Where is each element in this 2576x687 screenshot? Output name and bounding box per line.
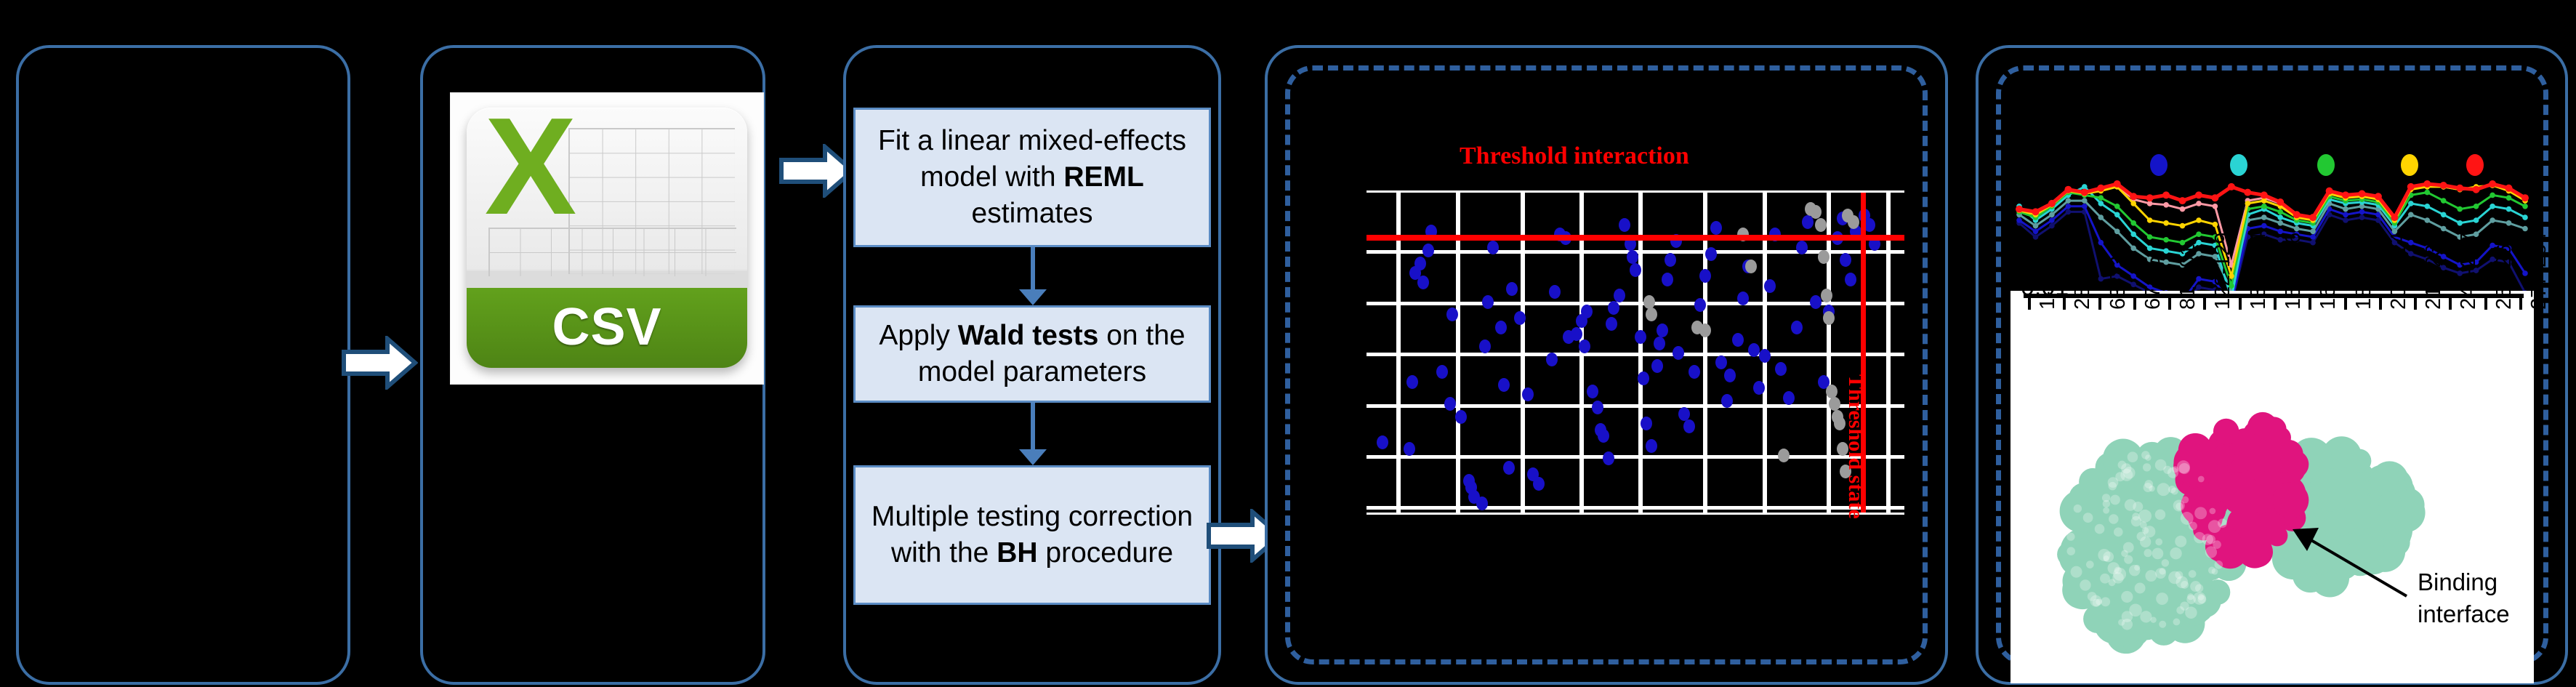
peptide-tick bbox=[2274, 298, 2277, 310]
protein-blob bbox=[2066, 533, 2074, 541]
scatter-point bbox=[1606, 317, 1617, 331]
line-marker bbox=[2474, 217, 2479, 223]
protein-blob bbox=[2199, 483, 2222, 506]
protein-blob bbox=[2189, 570, 2197, 578]
scatter-point bbox=[1581, 305, 1593, 318]
scatter-point bbox=[1829, 397, 1840, 411]
scatter-point bbox=[1848, 215, 1859, 229]
scatter-point bbox=[1406, 375, 1418, 389]
line-marker bbox=[2130, 220, 2136, 226]
protein-blob bbox=[2132, 513, 2140, 521]
line-marker bbox=[2147, 217, 2153, 223]
line-marker bbox=[2441, 198, 2447, 204]
peptide-tick-label: 81-101 bbox=[2176, 244, 2200, 310]
protein-blob bbox=[2190, 581, 2201, 592]
peptide-tick bbox=[2028, 298, 2031, 310]
legend-dot-2 bbox=[2317, 154, 2335, 176]
line-marker bbox=[2277, 214, 2283, 220]
scatter-point bbox=[1732, 333, 1744, 347]
scatter-point bbox=[1694, 298, 1706, 312]
protein-blob bbox=[2134, 565, 2140, 571]
protein-blob bbox=[2135, 583, 2146, 594]
threshold-interaction-label: Threshold interaction bbox=[1460, 142, 1689, 170]
protein-blob bbox=[2210, 508, 2216, 515]
line-marker bbox=[2114, 229, 2120, 235]
line-marker bbox=[2179, 197, 2186, 204]
protein-blob bbox=[2278, 482, 2298, 502]
line-marker bbox=[2180, 223, 2186, 229]
protein-blob bbox=[2101, 597, 2110, 606]
scatter-point bbox=[1705, 247, 1717, 261]
peptide-tick-label: 167-180 bbox=[2317, 233, 2340, 310]
protein-blob bbox=[2144, 549, 2152, 557]
protein-blob bbox=[2181, 581, 2189, 589]
line-marker bbox=[2163, 202, 2169, 208]
peptide-tick bbox=[2344, 298, 2347, 310]
peptide-tick bbox=[2168, 298, 2171, 310]
scatter-point bbox=[1657, 324, 1668, 337]
line-marker bbox=[2522, 226, 2528, 232]
line-marker bbox=[2016, 206, 2023, 213]
binding-interface-label-line1: Binding bbox=[2418, 569, 2497, 596]
line-marker bbox=[2261, 223, 2267, 229]
scatter-point bbox=[1479, 340, 1491, 353]
line-marker bbox=[2489, 180, 2496, 188]
line-marker bbox=[2196, 201, 2202, 206]
threshold-state-label: Threshold state bbox=[1843, 374, 1868, 519]
protein-blob bbox=[2140, 611, 2152, 622]
line-marker bbox=[2114, 180, 2121, 188]
line-marker bbox=[2326, 188, 2333, 195]
scatter-point bbox=[1654, 337, 1665, 350]
protein-blob bbox=[2087, 602, 2118, 633]
protein-blob bbox=[2208, 567, 2215, 574]
protein-blob bbox=[2175, 536, 2186, 547]
line-marker bbox=[2033, 229, 2039, 235]
protein-blob bbox=[2152, 548, 2164, 560]
protein-blob bbox=[2173, 619, 2180, 626]
scatter-point bbox=[1630, 263, 1641, 277]
protein-blob bbox=[2181, 512, 2194, 525]
line-marker bbox=[2098, 201, 2104, 206]
line-marker bbox=[2425, 190, 2431, 196]
protein-blob bbox=[2266, 525, 2287, 546]
binding-interface-label-line2: interface bbox=[2418, 600, 2510, 628]
protein-blob bbox=[2128, 451, 2138, 462]
scatter-point bbox=[1665, 253, 1676, 267]
protein-blob bbox=[2143, 463, 2151, 471]
scatter-point bbox=[1476, 497, 1488, 510]
scatter-point bbox=[1673, 346, 1684, 360]
peptide-tick-label: 200-214 bbox=[2387, 233, 2411, 310]
peptide-tick bbox=[2379, 298, 2382, 310]
line-marker bbox=[2423, 180, 2431, 188]
protein-blob bbox=[2122, 619, 2133, 630]
scatter-point bbox=[1710, 221, 1722, 235]
protein-blob bbox=[2182, 497, 2189, 504]
step-connector-2 bbox=[1031, 403, 1035, 452]
step-connector-arrowhead-2 bbox=[1019, 449, 1047, 465]
protein-blob bbox=[2239, 438, 2274, 473]
peptide-tick-label: 122-129 bbox=[2211, 233, 2235, 310]
protein-blob bbox=[2347, 449, 2371, 473]
line-marker bbox=[2244, 189, 2251, 196]
line-marker bbox=[2180, 206, 2186, 212]
line-marker bbox=[2114, 204, 2120, 209]
step-text: Fit a linear mixed-effects model with RE… bbox=[860, 123, 1204, 232]
peptide-tick-label: 135-144 bbox=[2247, 233, 2271, 310]
line-marker bbox=[2277, 209, 2283, 215]
scatter-point bbox=[1455, 410, 1467, 424]
protein-blob bbox=[2155, 539, 2162, 546]
scatter-point bbox=[1791, 321, 1803, 334]
line-marker bbox=[2343, 212, 2348, 218]
line-marker bbox=[2081, 189, 2088, 196]
line-marker bbox=[2490, 217, 2495, 223]
line-marker bbox=[2506, 195, 2512, 201]
protein-blob bbox=[2177, 460, 2190, 473]
step-text: Multiple testing correctionwith the BH p… bbox=[872, 499, 1193, 571]
protein-blob bbox=[2100, 574, 2110, 584]
line-marker bbox=[2359, 190, 2366, 198]
step-box-reml[interactable]: Fit a linear mixed-effects model with RE… bbox=[853, 108, 1211, 247]
line-marker bbox=[2522, 214, 2528, 220]
line-marker bbox=[2293, 211, 2301, 218]
peptide-tick-label: 158-166 bbox=[2282, 233, 2306, 310]
scatter-point bbox=[1619, 218, 1630, 232]
legend-dot-4 bbox=[2466, 154, 2484, 176]
step-box-wald[interactable]: Apply Wald tests on the model parameters bbox=[853, 305, 1211, 403]
scatter-point bbox=[1571, 327, 1582, 341]
line-marker bbox=[2441, 212, 2447, 218]
line-marker bbox=[2522, 204, 2528, 209]
scatter-point bbox=[1506, 282, 1518, 296]
scatter-point bbox=[1815, 218, 1827, 232]
csv-file-icon: X CSV bbox=[467, 108, 747, 368]
line-marker bbox=[2130, 193, 2137, 200]
protein-blob bbox=[2156, 592, 2168, 605]
line-marker bbox=[2146, 194, 2154, 201]
line-marker bbox=[2294, 226, 2300, 232]
flow-arrow-1 bbox=[342, 336, 418, 390]
line-marker bbox=[2032, 208, 2040, 215]
scatter-point bbox=[1414, 257, 1426, 270]
protein-blob bbox=[2194, 532, 2205, 544]
line-marker bbox=[2033, 234, 2039, 240]
scatter-point bbox=[1845, 273, 1856, 286]
line-marker bbox=[2391, 214, 2398, 221]
scatter-point bbox=[1598, 429, 1609, 443]
scatter-point bbox=[1683, 419, 1695, 433]
line-marker bbox=[2490, 204, 2495, 209]
csv-label-band: CSV bbox=[467, 288, 747, 368]
peptide-tick-label: 1-15 bbox=[2036, 268, 2060, 310]
protein-blob bbox=[2206, 535, 2215, 545]
line-marker bbox=[2066, 204, 2072, 209]
protein-blob bbox=[2383, 529, 2410, 556]
scatter-point bbox=[1422, 244, 1434, 257]
line-marker bbox=[2098, 195, 2104, 201]
step-connector-arrowhead-1 bbox=[1019, 289, 1047, 305]
line-marker bbox=[2196, 217, 2202, 223]
peptide-tick-label: 277-284 bbox=[2527, 233, 2551, 310]
scatter-point bbox=[1646, 308, 1657, 321]
line-marker bbox=[2213, 222, 2218, 228]
protein-blob bbox=[2114, 528, 2123, 537]
scatter-point bbox=[1635, 330, 1646, 344]
line-marker bbox=[2277, 198, 2284, 206]
line-marker bbox=[2130, 273, 2136, 279]
line-marker bbox=[2342, 191, 2349, 198]
line-marker bbox=[2310, 234, 2316, 240]
line-marker bbox=[2425, 204, 2431, 209]
scatter-point bbox=[1608, 301, 1619, 315]
scatter-point bbox=[1377, 435, 1388, 449]
line-marker bbox=[2049, 223, 2055, 229]
peptide-tick bbox=[2063, 298, 2066, 310]
legend-dot-1 bbox=[2230, 154, 2247, 176]
line-marker bbox=[2163, 248, 2169, 254]
peptide-tick-label: 258-266 bbox=[2492, 233, 2516, 310]
line-marker bbox=[2245, 201, 2251, 206]
protein-blob bbox=[2157, 483, 2170, 496]
scatter-point bbox=[1764, 279, 1776, 293]
protein-blob bbox=[2215, 561, 2223, 569]
line-marker bbox=[2162, 191, 2170, 198]
scatter-point bbox=[1778, 449, 1790, 462]
protein-blob bbox=[2344, 494, 2380, 530]
line-marker bbox=[2309, 214, 2317, 221]
scatter-point bbox=[1826, 385, 1838, 398]
line-marker bbox=[2066, 209, 2072, 215]
protein-blob bbox=[2120, 469, 2133, 481]
protein-blob bbox=[2175, 571, 2183, 579]
protein-blob bbox=[2133, 502, 2143, 512]
scatter-point bbox=[1689, 365, 1700, 379]
line-marker bbox=[2425, 217, 2431, 223]
protein-blob bbox=[2186, 595, 2196, 604]
peptide-tick-label: 218-237 bbox=[2422, 233, 2446, 310]
line-marker bbox=[2163, 237, 2169, 243]
legend-dot-0 bbox=[2150, 154, 2168, 176]
line-marker bbox=[2474, 204, 2479, 209]
protein-blob bbox=[2159, 568, 2165, 574]
line-marker bbox=[2490, 193, 2495, 198]
legend-dot-3 bbox=[2401, 154, 2418, 176]
line-marker bbox=[2130, 282, 2136, 288]
step-connector-1 bbox=[1031, 247, 1035, 292]
scatter-point bbox=[1436, 365, 1448, 379]
protein-blob bbox=[2149, 486, 2154, 491]
line-marker bbox=[2098, 240, 2104, 246]
peptide-tick-label: 67-75 bbox=[2141, 256, 2165, 310]
protein-blob bbox=[2378, 491, 2402, 515]
line-marker bbox=[2343, 206, 2348, 212]
line-marker bbox=[2456, 185, 2463, 192]
protein-structure-figure: Binding interface bbox=[2011, 378, 2534, 683]
line-marker bbox=[2473, 186, 2480, 193]
scatter-point bbox=[1643, 295, 1655, 309]
line-marker bbox=[2130, 201, 2136, 206]
scatter-point bbox=[1699, 324, 1711, 337]
protein-blob bbox=[2110, 495, 2120, 505]
csv-file-card: X CSV bbox=[451, 93, 763, 384]
scatter-point bbox=[1444, 397, 1456, 411]
line-marker bbox=[2114, 212, 2120, 218]
protein-blob bbox=[2112, 572, 2123, 583]
scatter-point bbox=[1482, 295, 1494, 309]
peptide-tick-label: 28-44 bbox=[2071, 256, 2095, 310]
protein-blob bbox=[2141, 451, 2149, 459]
peptide-tick bbox=[2484, 298, 2487, 310]
scatter-point bbox=[1745, 260, 1757, 273]
peptide-tick-label: 184-199 bbox=[2352, 233, 2376, 310]
protein-surface-render bbox=[2011, 378, 2534, 683]
protein-blob bbox=[2175, 502, 2183, 510]
protein-blob bbox=[2261, 417, 2286, 441]
line-marker bbox=[2407, 183, 2415, 190]
protein-blob bbox=[2088, 592, 2097, 601]
scatter-point bbox=[1699, 269, 1711, 283]
scatter-point bbox=[1810, 205, 1822, 219]
protein-blob bbox=[2144, 526, 2155, 537]
scatter-point bbox=[1759, 349, 1771, 363]
scatter-point bbox=[1818, 250, 1830, 264]
line-marker bbox=[2343, 217, 2348, 223]
scatter-point bbox=[1823, 311, 1835, 325]
protein-blob bbox=[2086, 561, 2094, 569]
line-marker bbox=[2049, 217, 2055, 223]
line-marker bbox=[2261, 204, 2267, 209]
scatter-point bbox=[1627, 250, 1638, 264]
protein-blob bbox=[2180, 601, 2189, 610]
scatter-point bbox=[1678, 407, 1690, 421]
protein-blob bbox=[2080, 579, 2090, 590]
scatter-point bbox=[1579, 340, 1590, 353]
scatter-point bbox=[1715, 355, 1727, 369]
protein-blob bbox=[2071, 566, 2082, 578]
threshold-scatter-chart: Threshold interaction Threshold state bbox=[1351, 145, 1917, 531]
peptide-tick bbox=[2133, 298, 2136, 310]
scatter-point bbox=[1638, 371, 1649, 385]
line-marker bbox=[2261, 191, 2268, 198]
line-marker bbox=[2049, 212, 2055, 218]
line-marker bbox=[2457, 206, 2463, 212]
csv-label-text: CSV bbox=[467, 288, 747, 366]
line-marker bbox=[2163, 220, 2169, 226]
flowchart-stage: X CSV Fit a linear mixed-effects model w… bbox=[0, 0, 2576, 687]
line-marker bbox=[2097, 185, 2104, 192]
scatter-point bbox=[1724, 369, 1736, 382]
scatter-point bbox=[1810, 295, 1822, 309]
line-marker bbox=[2098, 276, 2104, 282]
scatter-point bbox=[1783, 391, 1795, 405]
line-marker bbox=[2196, 231, 2202, 237]
scatter-point bbox=[1417, 276, 1429, 289]
line-marker bbox=[2440, 182, 2447, 189]
line-marker bbox=[2211, 194, 2218, 201]
protein-blob bbox=[2155, 510, 2166, 521]
line-marker bbox=[2261, 214, 2267, 220]
scatter-plot-area: Threshold state bbox=[1367, 190, 1904, 515]
scatter-point bbox=[1662, 273, 1673, 286]
scatter-point bbox=[1587, 385, 1598, 398]
line-marker bbox=[2310, 229, 2316, 235]
protein-blob bbox=[2145, 570, 2157, 582]
scatter-point bbox=[1748, 343, 1760, 357]
protein-blob bbox=[2095, 524, 2105, 534]
protein-blob bbox=[2121, 591, 2133, 603]
line-marker bbox=[2521, 194, 2529, 201]
line-series-green bbox=[2019, 193, 2525, 286]
protein-blob bbox=[2213, 445, 2235, 467]
line-marker bbox=[2048, 200, 2056, 207]
scatter-point bbox=[1546, 353, 1558, 366]
scatter-point bbox=[1495, 321, 1507, 334]
protein-blob bbox=[2109, 514, 2118, 523]
line-marker bbox=[2130, 246, 2136, 252]
scatter-point bbox=[1487, 241, 1499, 254]
protein-blob bbox=[2083, 513, 2093, 523]
line-marker bbox=[2261, 198, 2267, 204]
protein-blob bbox=[2108, 477, 2119, 488]
threshold-interaction-line bbox=[1367, 235, 1904, 241]
line-marker bbox=[2505, 185, 2513, 192]
scatter-point bbox=[1503, 461, 1515, 475]
line-marker bbox=[2082, 204, 2088, 209]
empty-stage-panel bbox=[16, 45, 350, 685]
line-marker bbox=[2082, 198, 2088, 204]
protein-blob bbox=[2159, 621, 2166, 628]
protein-blob bbox=[2066, 547, 2075, 555]
line-marker bbox=[2147, 234, 2153, 240]
protein-blob bbox=[2170, 547, 2181, 559]
protein-blob bbox=[2074, 505, 2082, 513]
protein-blob bbox=[2162, 559, 2169, 566]
line-marker bbox=[2195, 191, 2202, 198]
protein-blob bbox=[2121, 550, 2128, 557]
scatter-point bbox=[1651, 359, 1663, 373]
protein-blob bbox=[2163, 466, 2171, 474]
peptide-tick bbox=[2519, 298, 2522, 310]
step-box-bh[interactable]: Multiple testing correctionwith the BH p… bbox=[853, 465, 1211, 605]
scatter-point bbox=[1533, 477, 1545, 491]
peptide-tick bbox=[2309, 298, 2311, 310]
peptide-tick bbox=[2203, 298, 2206, 310]
line-marker bbox=[2147, 246, 2153, 252]
line-marker bbox=[2033, 223, 2039, 229]
protein-blob bbox=[2218, 518, 2227, 528]
line-marker bbox=[2064, 186, 2072, 193]
scatter-point bbox=[1614, 289, 1625, 302]
scatter-point bbox=[1514, 311, 1526, 325]
line-marker bbox=[2359, 209, 2365, 215]
line-marker bbox=[2457, 220, 2463, 226]
scatter-point bbox=[1592, 401, 1603, 414]
peptide-tick bbox=[2414, 298, 2417, 310]
line-marker bbox=[2441, 226, 2447, 232]
scatter-point bbox=[1404, 442, 1415, 456]
peptide-tick bbox=[2449, 298, 2452, 310]
excel-x-icon: X bbox=[480, 112, 581, 221]
line-marker bbox=[2506, 206, 2512, 212]
line-marker bbox=[2228, 183, 2235, 190]
line-marker bbox=[2213, 204, 2218, 209]
line-marker bbox=[2310, 240, 2316, 246]
line-marker bbox=[2408, 201, 2414, 206]
protein-blob bbox=[2194, 507, 2207, 519]
scatter-point bbox=[1549, 285, 1561, 299]
